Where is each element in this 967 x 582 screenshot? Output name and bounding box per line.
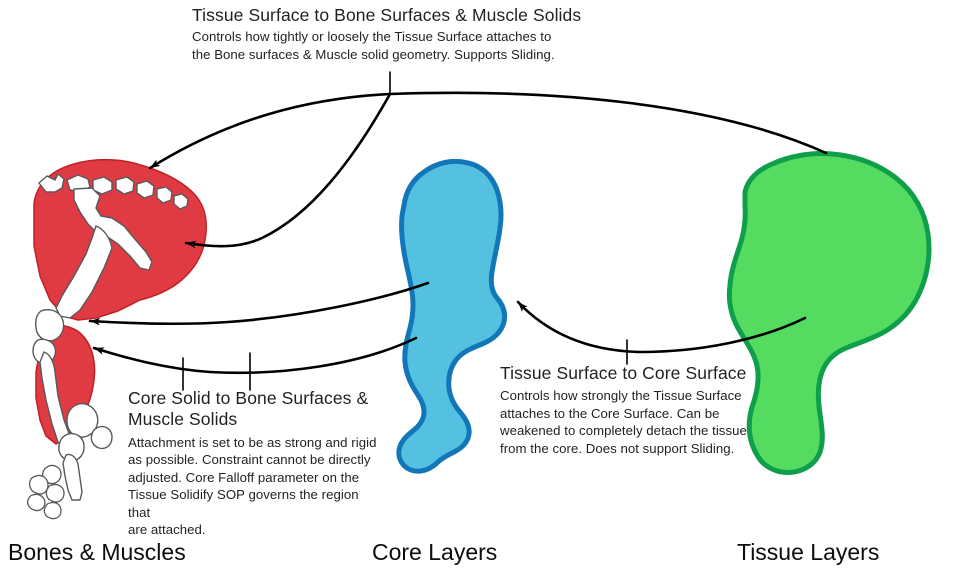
arrow-core-to-bone-lower [94,338,416,373]
bone-toe-3 [46,484,64,502]
bone-metatarsal [63,454,82,500]
arrow-tissue-to-bone-lower [186,94,390,246]
bone-vertebra-4 [116,177,134,194]
annotation-tissue-to-core-title: Tissue Surface to Core Surface [500,363,762,384]
diagram-canvas: Tissue Surface to Bone Surfaces & Muscle… [0,0,967,582]
bone-ankle-side [91,427,112,449]
column-label-core-layers: Core Layers [372,539,497,566]
column-label-bones-muscles: Bones & Muscles [8,539,186,566]
core-layer-figure [399,161,505,471]
bone-toe-5 [44,502,61,518]
annotation-core-to-bone-title: Core Solid to Bone Surfaces & Muscle Sol… [128,388,378,431]
bone-toe-2 [30,475,48,494]
annotation-tissue-to-core-body: Controls how strongly the Tissue Surface… [500,387,762,457]
annotation-tissue-to-bone-body: Controls how tightly or loosely the Tiss… [192,28,612,63]
bone-toe-4 [28,494,45,510]
annotation-core-to-bone: Core Solid to Bone Surfaces & Muscle Sol… [128,388,378,539]
core-layer-shape [399,161,505,471]
annotation-core-to-bone-body: Attachment is set to be as strong and ri… [128,434,378,539]
column-label-tissue-layers: Tissue Layers [737,539,879,566]
bone-vertebra-5 [137,181,154,198]
arrow-tissue-to-bone-upper [150,93,826,168]
bone-vertebra-6 [157,187,172,203]
annotation-tissue-to-bone-title: Tissue Surface to Bone Surfaces & Muscle… [192,5,612,26]
bone-knee-joint [36,310,64,341]
annotation-tissue-to-bone: Tissue Surface to Bone Surfaces & Muscle… [192,5,612,63]
annotation-tissue-to-core: Tissue Surface to Core Surface Controls … [500,363,762,458]
